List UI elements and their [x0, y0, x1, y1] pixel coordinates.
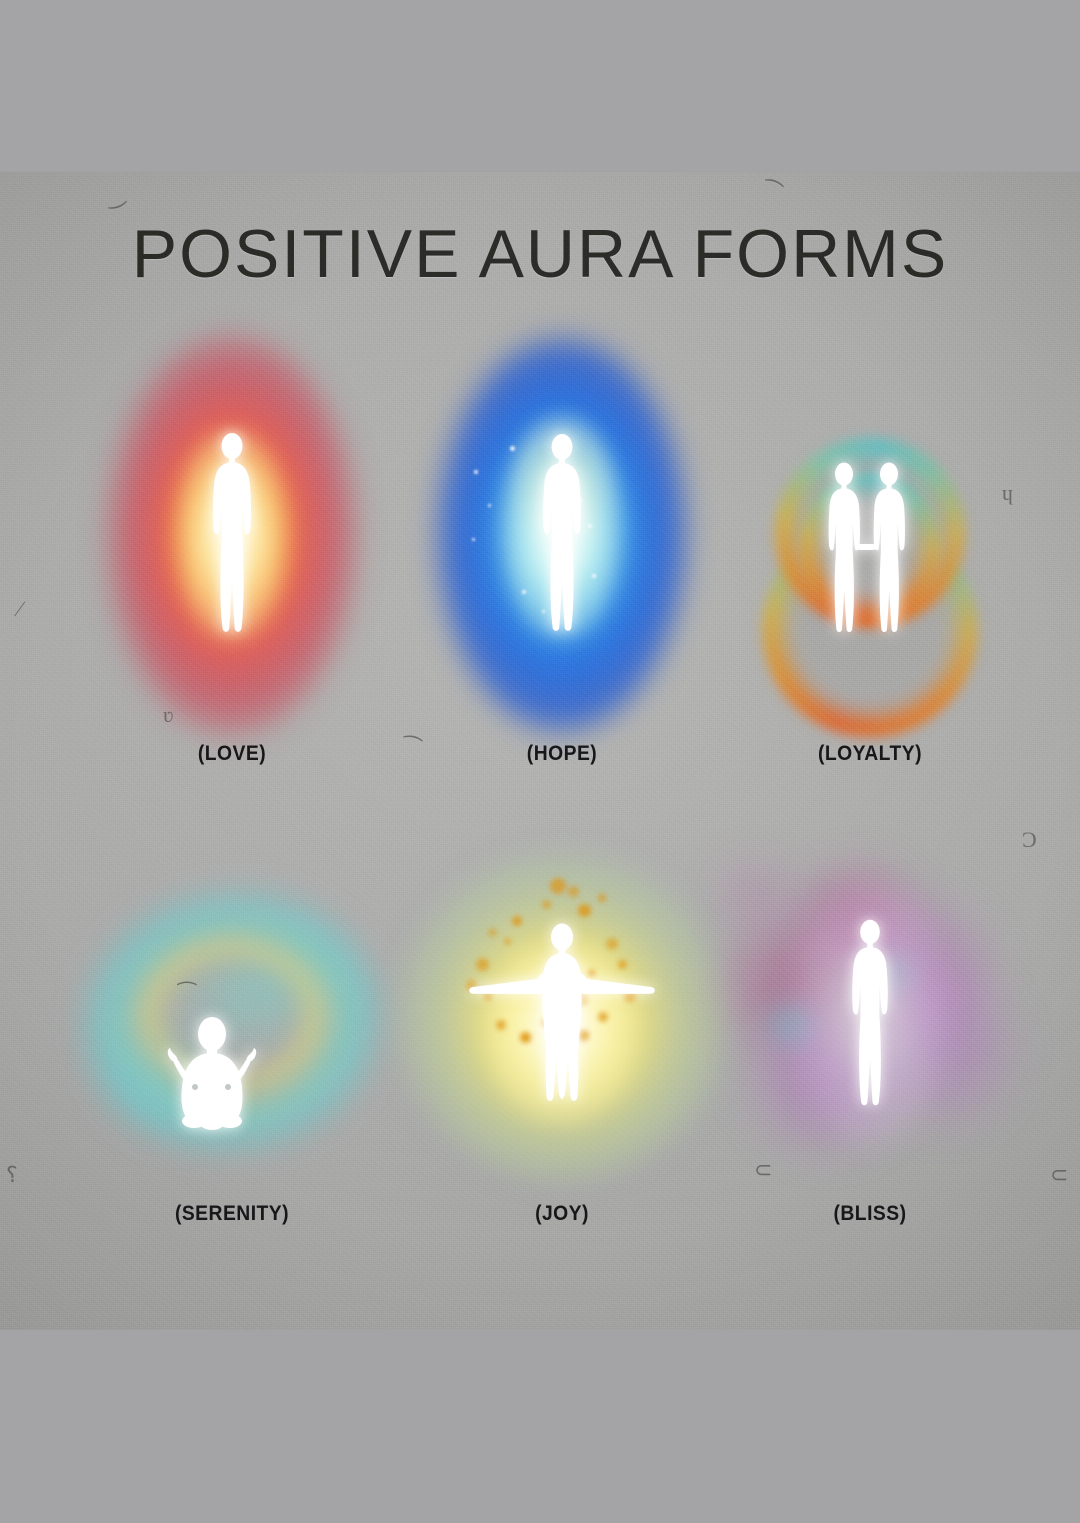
pencil-mark: ⁀	[101, 180, 127, 210]
aura-stage-serenity	[62, 842, 402, 1187]
caption-loyalty: (LOYALTY)	[714, 742, 1027, 766]
hope-sparkle	[510, 446, 515, 451]
joy-particle	[550, 878, 566, 894]
joy-particle	[568, 886, 579, 897]
caption-love: (LOVE)	[76, 742, 389, 766]
aura-stage-hope	[392, 342, 732, 727]
joy-particle	[598, 894, 606, 902]
aura-card-joy[interactable]: (JOY)	[392, 842, 732, 1272]
hope-sparkle	[472, 538, 475, 541]
poster-page: POSITIVE AURA FORMS	[0, 0, 1080, 1523]
aura-stage-loyalty	[700, 342, 1040, 727]
figure-standing-bliss	[836, 917, 904, 1113]
aura-stage-bliss	[700, 842, 1040, 1187]
figure-standing-love	[196, 430, 268, 640]
letterbox-bottom	[0, 1330, 1080, 1523]
aura-card-loyalty[interactable]: (LOYALTY)	[700, 342, 1040, 822]
figure-standing-hope	[526, 431, 598, 639]
aura-stage-joy	[392, 842, 732, 1187]
bliss-teal-accent-1	[762, 997, 822, 1052]
bliss-cloud-6	[710, 854, 800, 934]
caption-bliss: (BLISS)	[714, 1202, 1027, 1226]
page-title: POSITIVE AURA FORMS	[0, 220, 1080, 288]
aura-card-love[interactable]: (LOVE)	[62, 342, 402, 822]
caption-hope: (HOPE)	[406, 742, 719, 766]
aura-card-bliss[interactable]: (BLISS)	[700, 842, 1040, 1272]
aura-stage-love	[62, 342, 402, 727]
figure-pair-loyalty	[810, 460, 930, 640]
caption-joy: (JOY)	[406, 1202, 719, 1226]
figure-seated-serenity	[147, 1017, 277, 1132]
figure-arms-out-joy	[457, 915, 667, 1115]
letterbox-top	[0, 0, 1080, 172]
aura-card-hope[interactable]: (HOPE)	[392, 342, 732, 822]
hope-sparkle	[488, 504, 491, 507]
aura-card-serenity[interactable]: (SERENITY)	[62, 842, 402, 1272]
caption-serenity: (SERENITY)	[76, 1202, 389, 1226]
aura-poster: POSITIVE AURA FORMS	[0, 172, 1080, 1330]
pencil-mark: ⁀	[758, 178, 784, 208]
aura-grid: (LOVE)	[0, 322, 1080, 1302]
joy-particle	[542, 900, 551, 909]
hope-sparkle	[474, 470, 478, 474]
